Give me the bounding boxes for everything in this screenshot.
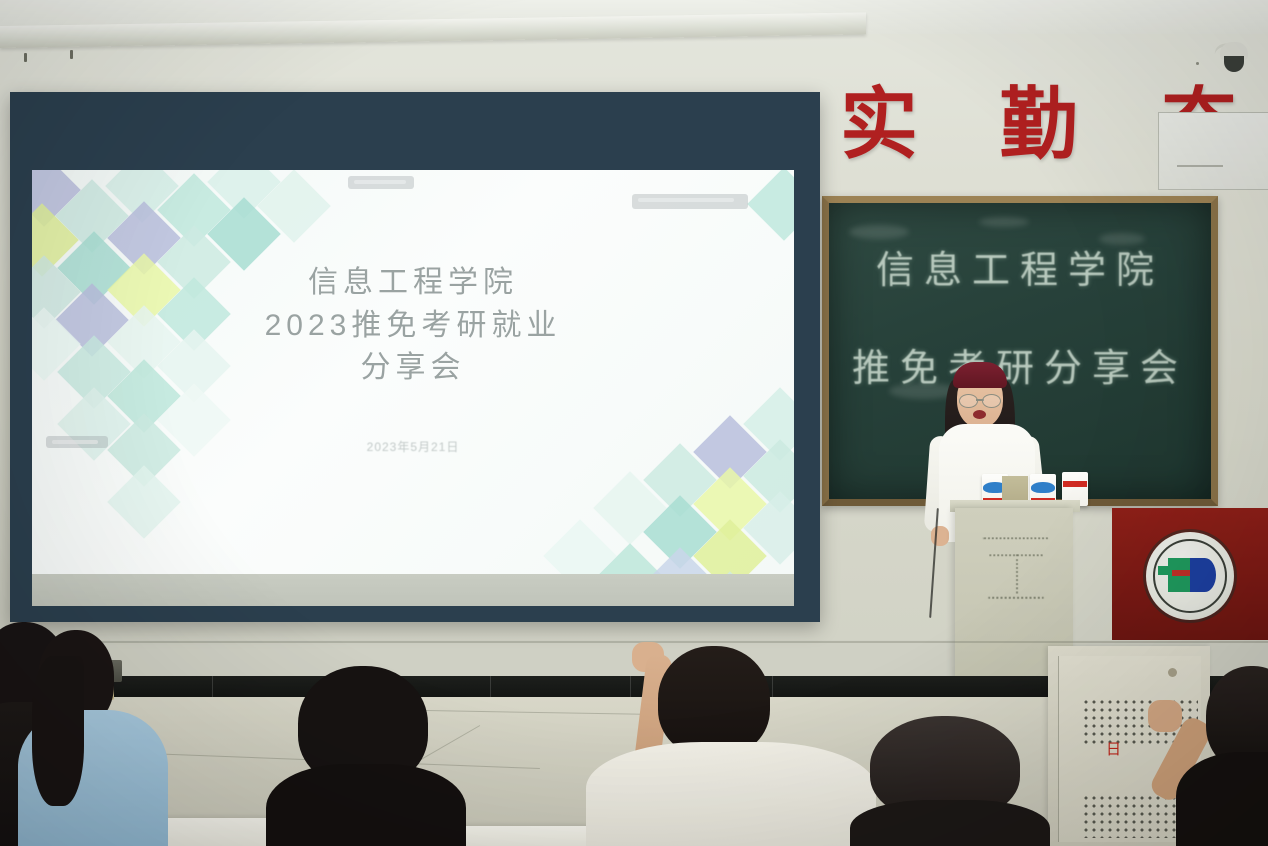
dome-security-camera-icon <box>1214 42 1254 76</box>
list-item <box>22 626 192 846</box>
blackboard-line-1: 信息工程学院 <box>829 239 1211 294</box>
list-item <box>596 646 866 846</box>
rail-hook-icon <box>70 50 73 59</box>
dotted-basket-emblem-icon <box>976 537 1057 598</box>
rail-hook-icon <box>24 53 27 62</box>
presenter-cap <box>953 362 1007 388</box>
list-item <box>272 666 462 846</box>
cabinet-knob[interactable] <box>1168 668 1177 677</box>
slide-title-line-3: 分享会 <box>32 347 794 390</box>
notice-board-text-line <box>1177 165 1223 167</box>
university-logo-icon <box>1146 532 1234 620</box>
cabinet-sticker: 日 <box>1106 742 1121 759</box>
presenter-mouth <box>973 410 986 419</box>
slide-date: 2023年5月21日 <box>32 438 794 455</box>
slide-title-line-1: 信息工程学院 <box>32 262 794 305</box>
projection-screen: 信息工程学院 2023推免考研就业 分享会 2023年5月21日 <box>10 92 820 622</box>
slide-ui-chip-top-right[interactable] <box>632 194 748 209</box>
raised-hand <box>1148 700 1182 732</box>
presentation-slide: 信息工程学院 2023推免考研就业 分享会 2023年5月21日 <box>32 170 794 578</box>
screen-surface: 信息工程学院 2023推免考研就业 分享会 2023年5月21日 <box>32 170 794 600</box>
university-banner <box>1112 508 1268 640</box>
notice-board <box>1158 112 1268 190</box>
slide-title-block: 信息工程学院 2023推免考研就业 分享会 <box>32 262 794 390</box>
slide-ui-chip-top-left[interactable] <box>348 176 414 189</box>
wall-mark <box>1196 62 1199 65</box>
list-item <box>1196 666 1268 846</box>
slide-title-line-2: 2023推免考研就业 <box>32 305 794 348</box>
glasses-icon <box>959 394 1001 406</box>
list-item <box>846 716 1046 846</box>
screen-blank-strip <box>32 574 794 606</box>
classroom-photo-scene: 实 勤 奋 信息工程学院 推免考研分享会 <box>0 0 1268 846</box>
slide-ui-chip-bottom-left[interactable] <box>46 436 108 448</box>
